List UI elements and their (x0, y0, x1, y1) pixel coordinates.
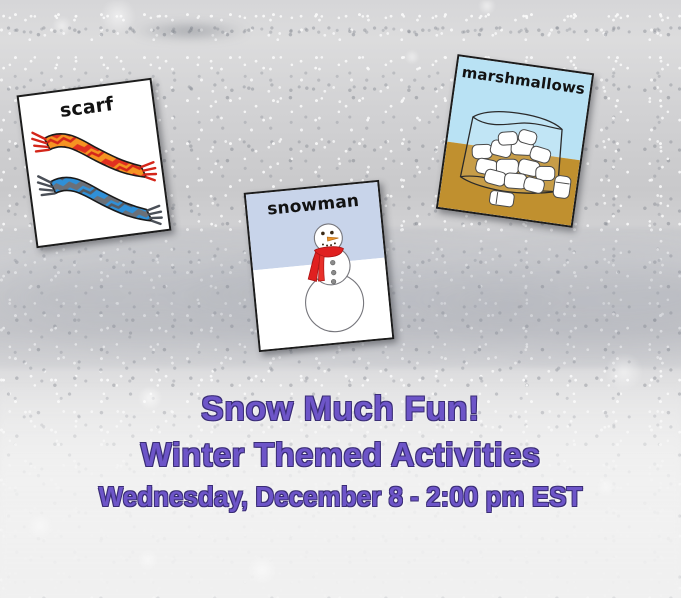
poster-text-block: Snow Much Fun! Winter Themed Activities … (0, 392, 681, 511)
bag-of-marshmallows-icon (438, 56, 592, 225)
poster-title: Snow Much Fun! (0, 392, 681, 426)
card-marshmallows[interactable]: marshmallows (436, 54, 594, 228)
poster-datetime: Wednesday, December 8 - 2:00 pm EST (24, 483, 657, 511)
card-snowman[interactable]: snowman (244, 180, 395, 352)
poster-subtitle: Winter Themed Activities (0, 438, 681, 471)
snowman-icon (246, 182, 392, 350)
card-scarf[interactable]: scarf (17, 78, 172, 248)
two-striped-scarves-icon (19, 80, 169, 246)
poster-canvas: scarf (0, 0, 681, 598)
